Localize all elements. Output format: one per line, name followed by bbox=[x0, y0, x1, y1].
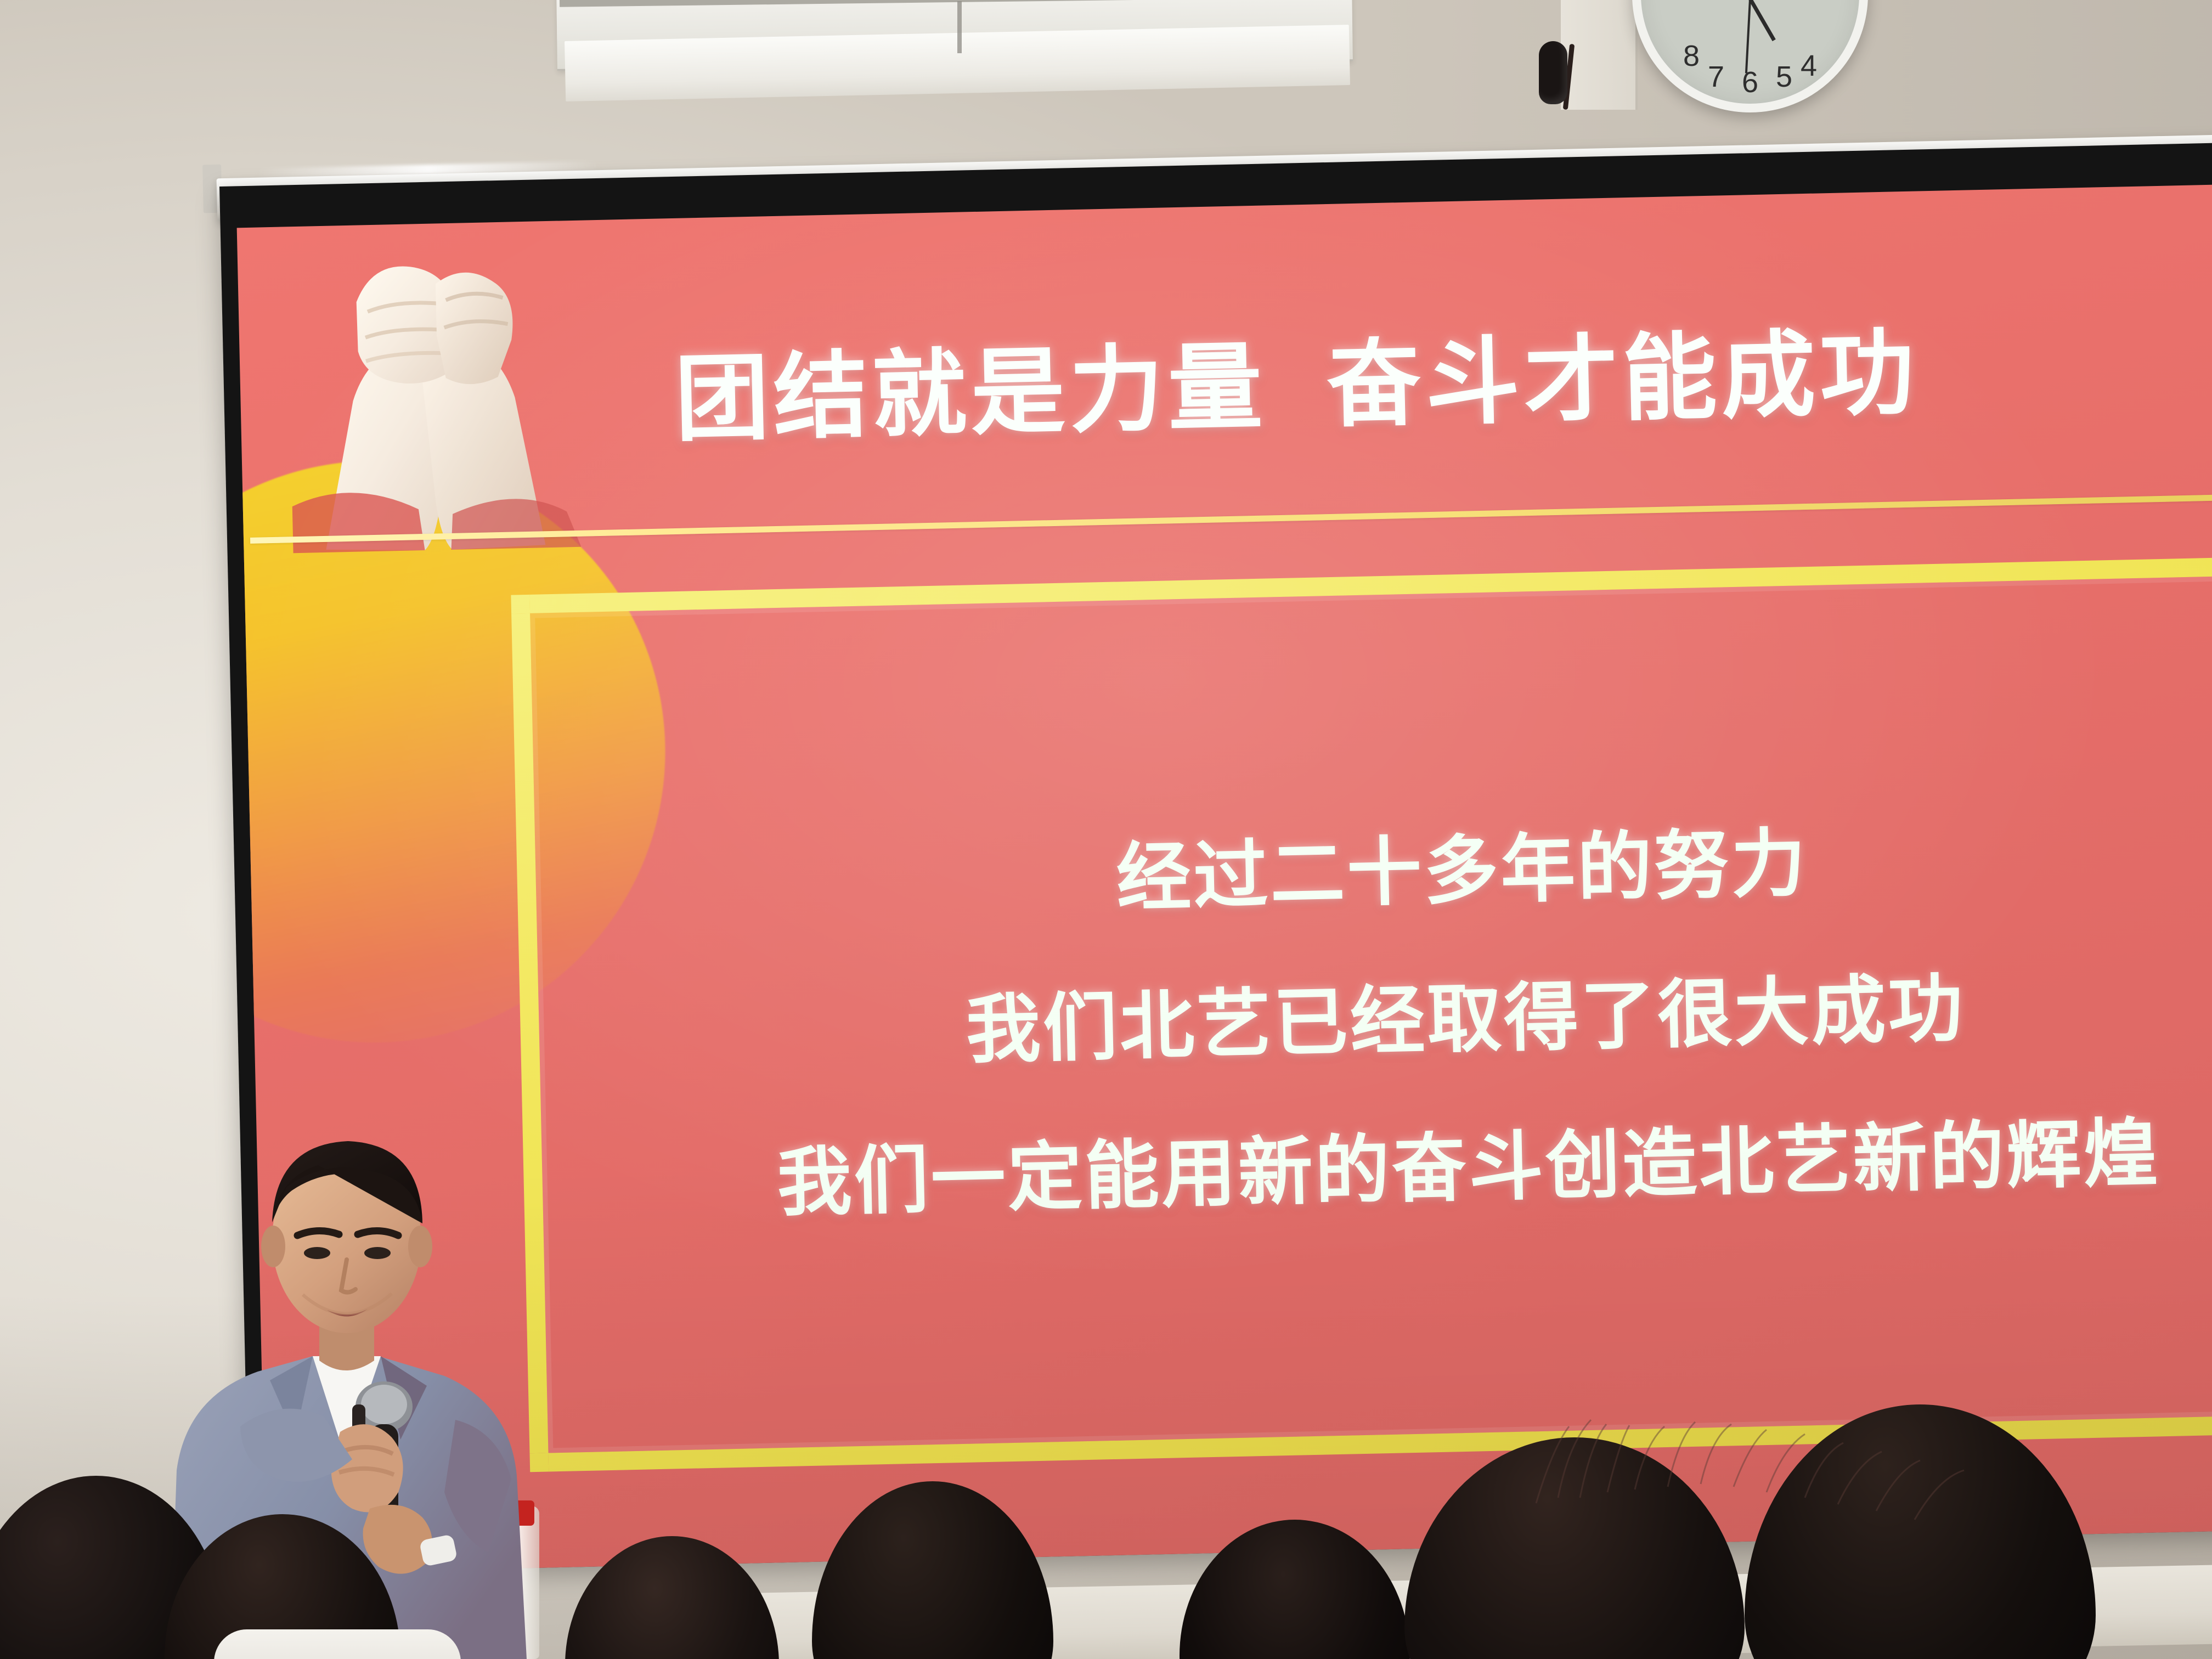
classroom-scene: 4 5 6 7 8 bbox=[0, 0, 2212, 1659]
hair-wisps bbox=[1372, 1361, 2140, 1659]
clock-number-7: 7 bbox=[1708, 60, 1724, 94]
slide-title-part1: 团结就是力量 bbox=[674, 331, 1268, 454]
clock-number-8: 8 bbox=[1683, 39, 1700, 73]
clock-number-6: 6 bbox=[1742, 65, 1758, 99]
slide-body: 经过二十多年的努力 我们北艺已经取得了很大成功 我们一定能用新的奋斗创造北艺新的… bbox=[530, 573, 2212, 1453]
yellow-border-frame: 经过二十多年的努力 我们北艺已经取得了很大成功 我们一定能用新的奋斗创造北艺新的… bbox=[511, 554, 2212, 1472]
clock-hour-hand bbox=[1748, 0, 1776, 42]
clock-number-5: 5 bbox=[1776, 60, 1792, 94]
ceiling-panel-tab bbox=[957, 1, 962, 53]
slide-body-line-3: 我们一定能用新的奋斗创造北艺新的辉煌 bbox=[776, 1092, 2161, 1231]
title-gap bbox=[1267, 418, 1328, 419]
slide-title-part2: 奋斗才能成功 bbox=[1325, 318, 1920, 441]
clock-number-4: 4 bbox=[1801, 49, 1817, 83]
slide-body-line-2: 我们北艺已经取得了很大成功 bbox=[964, 948, 1966, 1078]
clock-minute-hand bbox=[1745, 0, 1751, 73]
audience-shirt bbox=[214, 1629, 461, 1659]
slide-body-line-1: 经过二十多年的努力 bbox=[1115, 803, 1809, 926]
wall-sensor-icon bbox=[1539, 41, 1567, 104]
